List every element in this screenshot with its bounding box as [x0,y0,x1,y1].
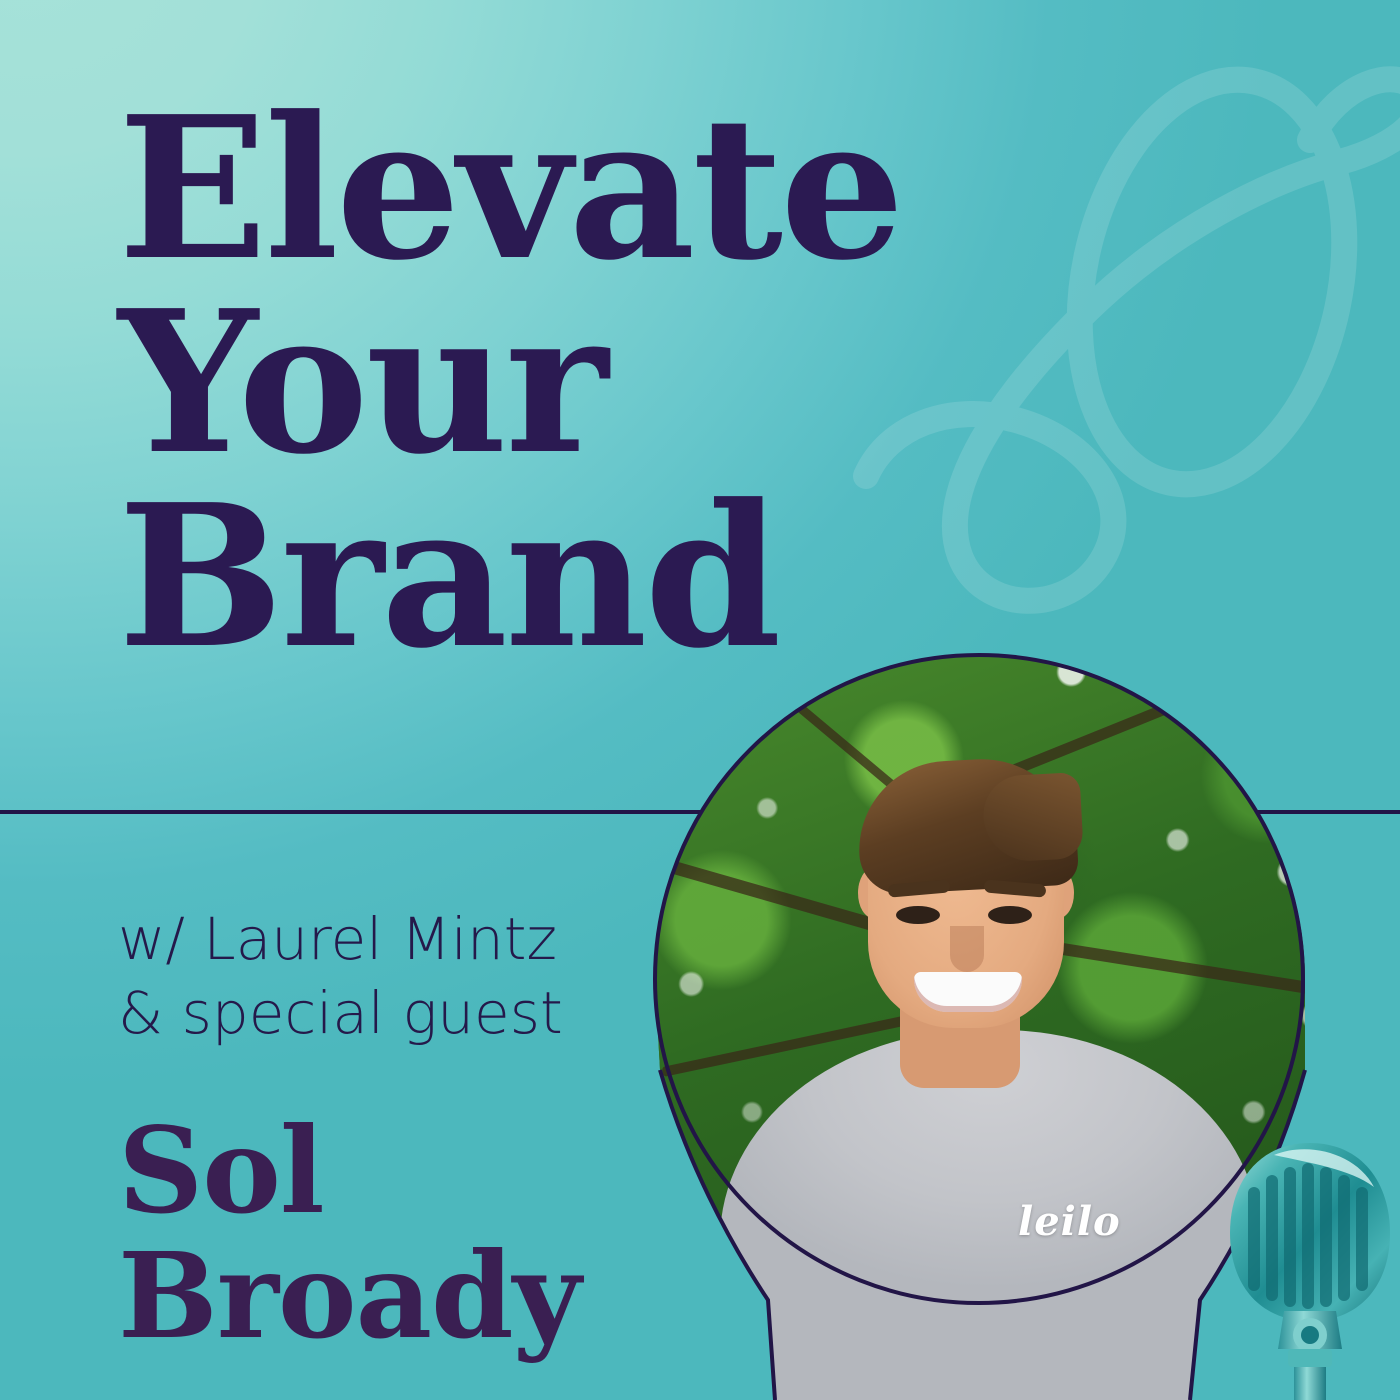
host-line-2: & special guest [118,976,563,1050]
guest-name-line-1: Sol [118,1108,580,1233]
vintage-microphone-icon [1218,1135,1400,1400]
host-line-1: w/ Laurel Mintz [118,902,563,976]
podcast-cover-art: Elevate Your Brand [0,0,1400,1400]
page-title: Elevate Your Brand [118,92,958,674]
title-line-2: Your [118,286,958,480]
guest-name: Sol Broady [118,1108,580,1358]
title-line-1: Elevate [118,92,958,286]
title-line-3: Brand [118,480,958,674]
portrait-circle-outline [653,653,1305,1305]
host-credit: w/ Laurel Mintz & special guest [118,902,563,1050]
guest-name-line-2: Broady [118,1233,580,1358]
